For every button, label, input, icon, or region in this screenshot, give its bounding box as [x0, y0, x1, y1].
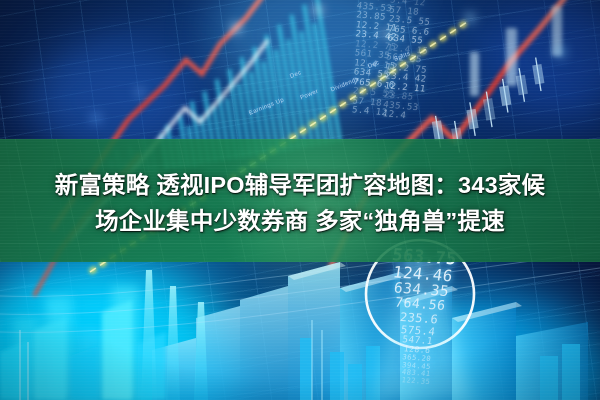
banner-image: 12.4435.5323.8512.2 1123.4 4212.2 75561 … — [0, 0, 600, 400]
headline-line-1: 新富策略 透视IPO辅导军团扩容地图：343家候 — [55, 166, 546, 200]
headline-text: 新富策略 透视IPO辅导军团扩容地图：343家候 场企业集中少数券商 多家“独角… — [0, 139, 600, 262]
headline-line-2: 场企业集中少数券商 多家“独角兽”提速 — [95, 202, 505, 236]
cyan-spikes — [141, 270, 208, 400]
